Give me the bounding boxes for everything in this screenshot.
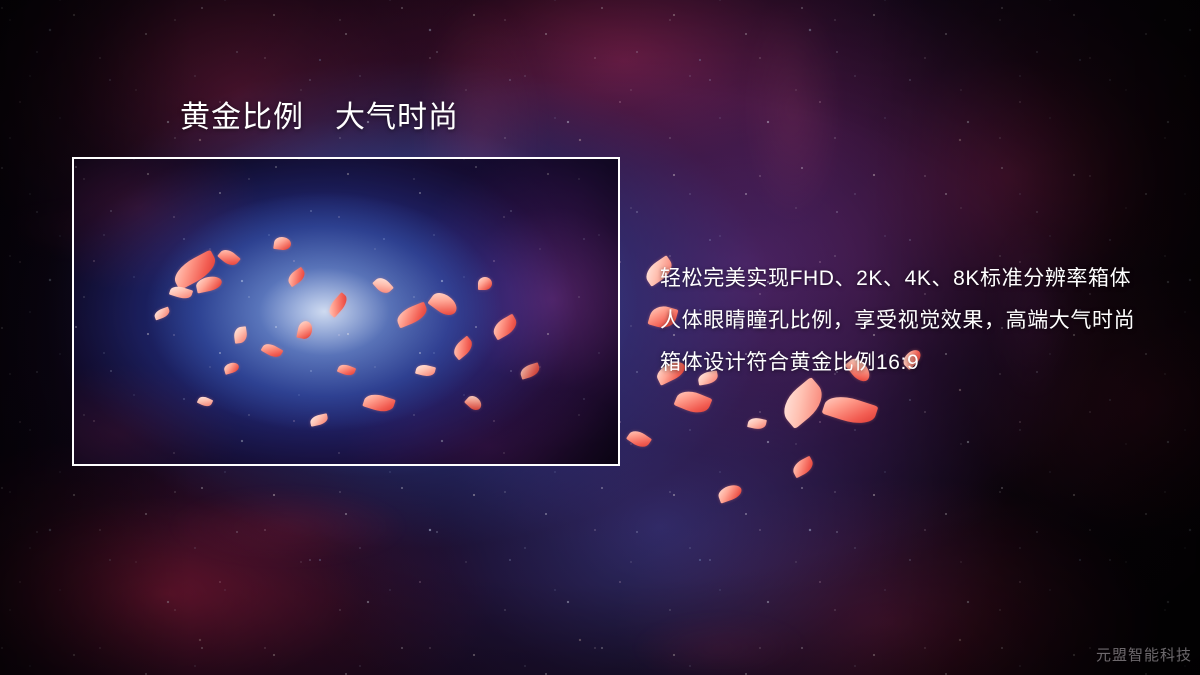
flower-petal: [822, 391, 879, 430]
flower-petal: [747, 416, 767, 431]
frame-vignette: [74, 159, 618, 464]
watermark: 元盟智能科技: [1096, 644, 1192, 665]
body-line-3: 箱体设计符合黄金比例16:9: [660, 342, 1180, 384]
flower-petal: [673, 386, 712, 417]
body-line-1: 轻松完美实现FHD、2K、4K、8K标准分辨率箱体: [660, 258, 1180, 300]
flower-petal: [716, 482, 743, 503]
flower-petal: [626, 427, 652, 451]
flower-petal: [790, 456, 816, 479]
body-line-2: 人体眼睛瞳孔比例，享受视觉效果，高端大气时尚: [660, 300, 1180, 342]
page-title: 黄金比例 大气时尚: [180, 101, 459, 134]
framed-nebula-image: [72, 157, 620, 466]
presentation-slide: 黄金比例 大气时尚 轻松完美实现FHD、2K、4K、8K标准分辨率箱体 人体眼睛…: [0, 0, 1200, 675]
flower-petal: [776, 377, 831, 430]
body-text-block: 轻松完美实现FHD、2K、4K、8K标准分辨率箱体 人体眼睛瞳孔比例，享受视觉效…: [660, 258, 1180, 384]
